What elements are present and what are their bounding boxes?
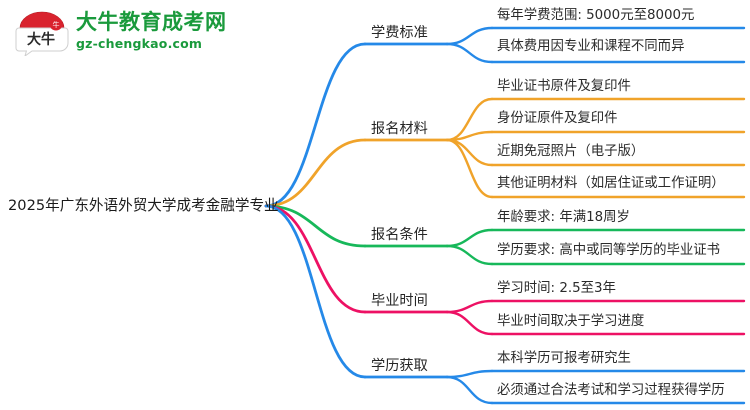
branch-label-xuelihuoqu[interactable]: 学历获取 [371,359,428,373]
leaf-label-id-copy[interactable]: 身份证原件及复印件 [497,112,618,125]
leaf-label-tuition-varies[interactable]: 具体费用因专业和课程不同而异 [497,40,684,53]
branch-label-baomingcailiao[interactable]: 报名材料 [371,122,428,136]
leaf-label-legal-exam[interactable]: 必须通过合法考试和学习过程获得学历 [497,384,725,397]
leaf-label-age-requirement[interactable]: 年龄要求: 年满18周岁 [497,211,630,224]
leaf-label-diploma-copy[interactable]: 毕业证书原件及复印件 [497,80,631,93]
leaf-label-study-duration[interactable]: 学习时间: 2.5至3年 [497,282,616,295]
leaf-label-photo[interactable]: 近期免冠照片（电子版） [497,145,644,158]
branch-label-baomingtiaojian[interactable]: 报名条件 [371,228,428,242]
leaf-label-graduation-progress[interactable]: 毕业时间取决于学习进度 [497,315,644,328]
branch-label-xuefeibiaozhun[interactable]: 学费标准 [371,26,428,40]
leaf-label-other-proof[interactable]: 其他证明材料（如居住证或工作证明） [497,177,725,190]
mindmap-canvas: 大牛 牛 大牛教育成考网 gz-chengkao.com 2025年广东外语外贸… [0,0,750,410]
leaf-label-tuition-range[interactable]: 每年学费范围: 5000元至8000元 [497,9,694,22]
mindmap-root-label[interactable]: 2025年广东外语外贸大学成考金融学专业 [8,199,279,214]
branch-label-biyeshijian[interactable]: 毕业时间 [371,294,428,308]
leaf-label-education-requirement[interactable]: 学历要求: 高中或同等学历的毕业证书 [497,244,720,257]
leaf-label-bachelor-postgrad[interactable]: 本科学历可报考研究生 [497,352,631,365]
